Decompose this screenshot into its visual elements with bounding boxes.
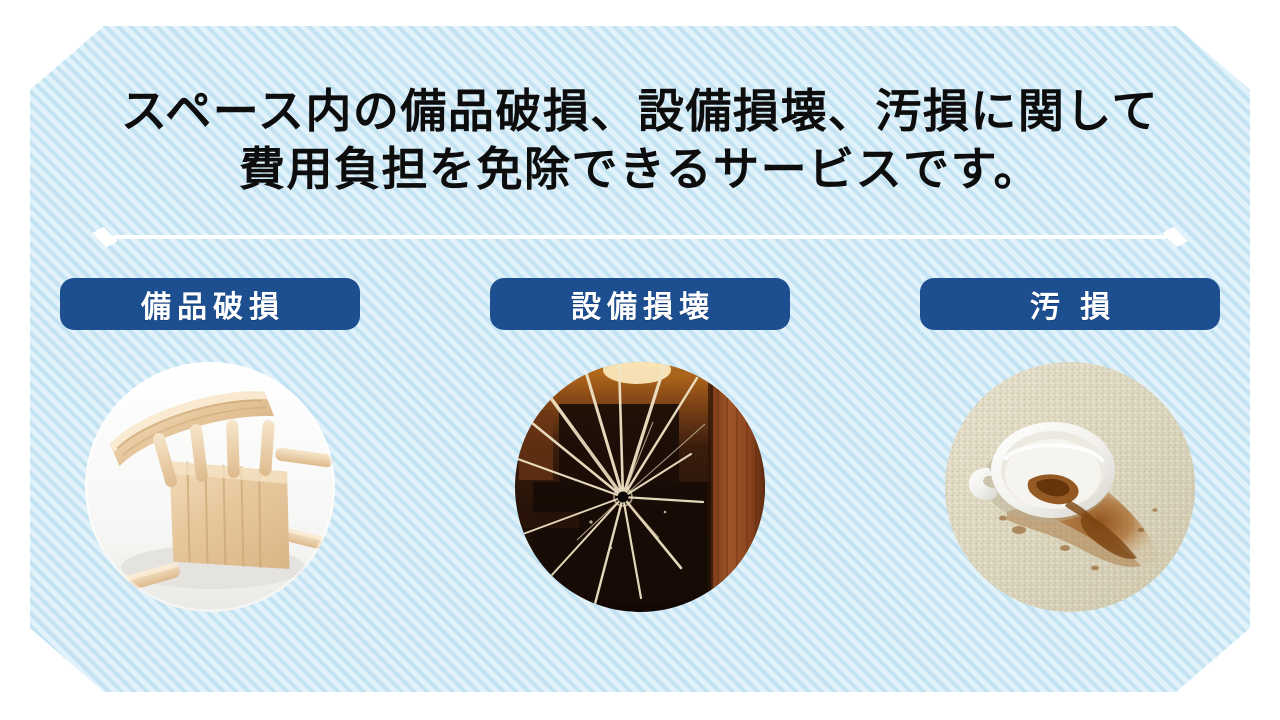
damage-category-list: 備品破損: [60, 278, 1220, 612]
list-item[interactable]: 汚 損: [920, 278, 1220, 612]
page-title-line-1: スペース内の備品破損、設備損壊、汚損に関して: [0, 82, 1280, 140]
page-title-line-2: 費用負担を免除できるサービスです。: [0, 140, 1280, 198]
broken-wooden-chair-photo: [85, 362, 335, 612]
list-item[interactable]: 備品破損: [60, 278, 360, 612]
status-badge: 汚 損: [920, 278, 1220, 330]
list-item[interactable]: 設備損壊: [490, 278, 790, 612]
cracked-glass-photo: [515, 362, 765, 612]
slide-root: スペース内の備品破損、設備損壊、汚損に関して 費用負担を免除できるサービスです。…: [0, 0, 1280, 720]
section-divider: [95, 225, 1185, 249]
diamond-cap-icon-right: [1162, 227, 1187, 247]
divider-rule: [113, 235, 1167, 239]
status-badge: 設備損壊: [490, 278, 790, 330]
coffee-stain-carpet-photo: [945, 362, 1195, 612]
status-badge: 備品破損: [60, 278, 360, 330]
page-title: スペース内の備品破損、設備損壊、汚損に関して 費用負担を免除できるサービスです。: [0, 82, 1280, 198]
